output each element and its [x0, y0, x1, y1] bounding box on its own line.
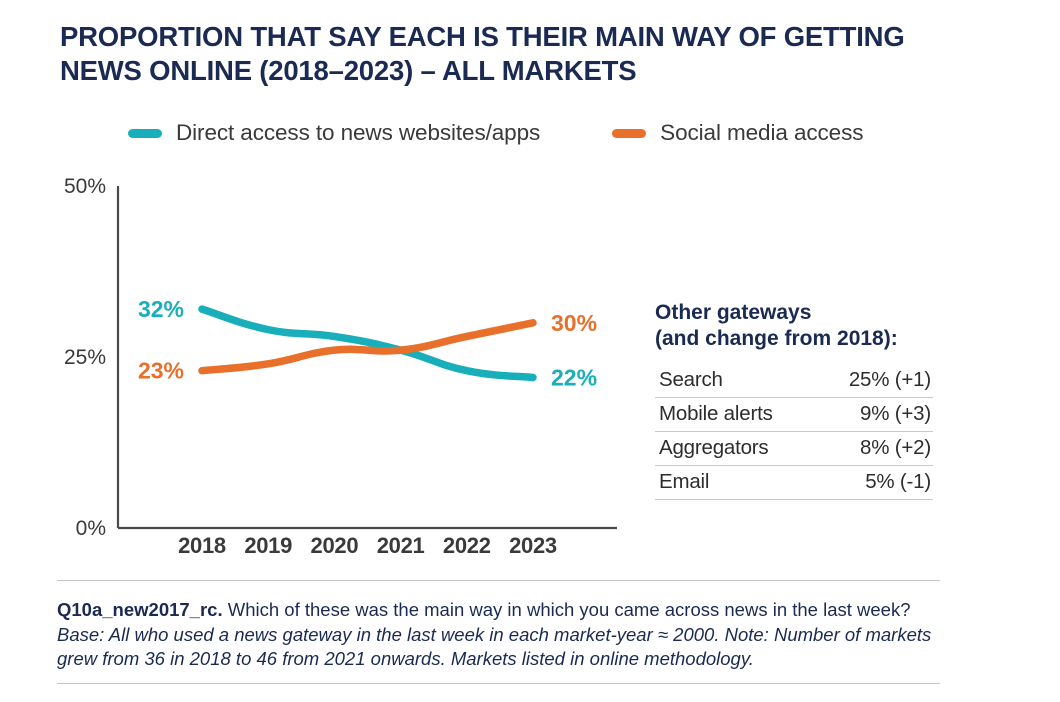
gateway-value: 5% (-1)	[865, 470, 931, 494]
footnote-question-text: Which of these was the main way in which…	[223, 599, 911, 620]
x-axis-tick-label: 2019	[244, 533, 292, 558]
series-end-value-label: 30%	[551, 310, 597, 336]
x-axis-tick-label: 2020	[311, 533, 359, 558]
legend-label-social: Social media access	[660, 120, 863, 146]
series-line	[202, 323, 533, 371]
y-axis-tick-label: 0%	[76, 517, 106, 540]
y-axis-tick-label: 25%	[64, 346, 106, 369]
gateway-name: Aggregators	[659, 436, 768, 460]
x-axis-tick-label: 2021	[377, 533, 425, 558]
series-start-value-label: 32%	[138, 296, 184, 322]
gateway-row: Aggregators8% (+2)	[655, 432, 933, 466]
gateway-value: 8% (+2)	[860, 436, 931, 460]
y-axis-tick-label: 50%	[64, 175, 106, 198]
x-axis-tick-label: 2023	[509, 533, 557, 558]
gateway-name: Search	[659, 368, 723, 392]
footnote-base-text: Base: All who used a news gateway in the…	[57, 624, 931, 670]
gateway-name: Email	[659, 470, 709, 494]
divider-above-footnote	[57, 580, 940, 581]
x-axis-tick-label: 2018	[178, 533, 226, 558]
other-gateways-panel: Other gateways (and change from 2018): S…	[655, 300, 933, 500]
footnote: Q10a_new2017_rc. Which of these was the …	[57, 598, 942, 672]
gateway-row: Mobile alerts9% (+3)	[655, 398, 933, 432]
chart-svg: 0%25%50% 201820192020202120222023 32%22%…	[0, 0, 660, 580]
y-axis: 0%25%50%	[64, 175, 118, 540]
x-axis: 201820192020202120222023	[118, 528, 617, 558]
line-chart-plot: 0%25%50% 201820192020202120222023 32%22%…	[0, 0, 660, 585]
divider-below-footnote	[57, 683, 940, 684]
gateway-value: 25% (+1)	[849, 368, 931, 392]
series-end-value-label: 22%	[551, 365, 597, 391]
gateway-row: Email5% (-1)	[655, 466, 933, 500]
other-gateways-table: Search25% (+1)Mobile alerts9% (+3)Aggreg…	[655, 364, 933, 500]
x-axis-tick-label: 2022	[443, 533, 491, 558]
other-gateways-heading: Other gateways (and change from 2018):	[655, 300, 933, 353]
series-start-value-label: 23%	[138, 358, 184, 384]
gateway-value: 9% (+3)	[860, 402, 931, 426]
series-lines	[202, 309, 533, 377]
gateway-name: Mobile alerts	[659, 402, 773, 426]
footnote-question-code: Q10a_new2017_rc.	[57, 599, 223, 620]
gateway-row: Search25% (+1)	[655, 364, 933, 398]
